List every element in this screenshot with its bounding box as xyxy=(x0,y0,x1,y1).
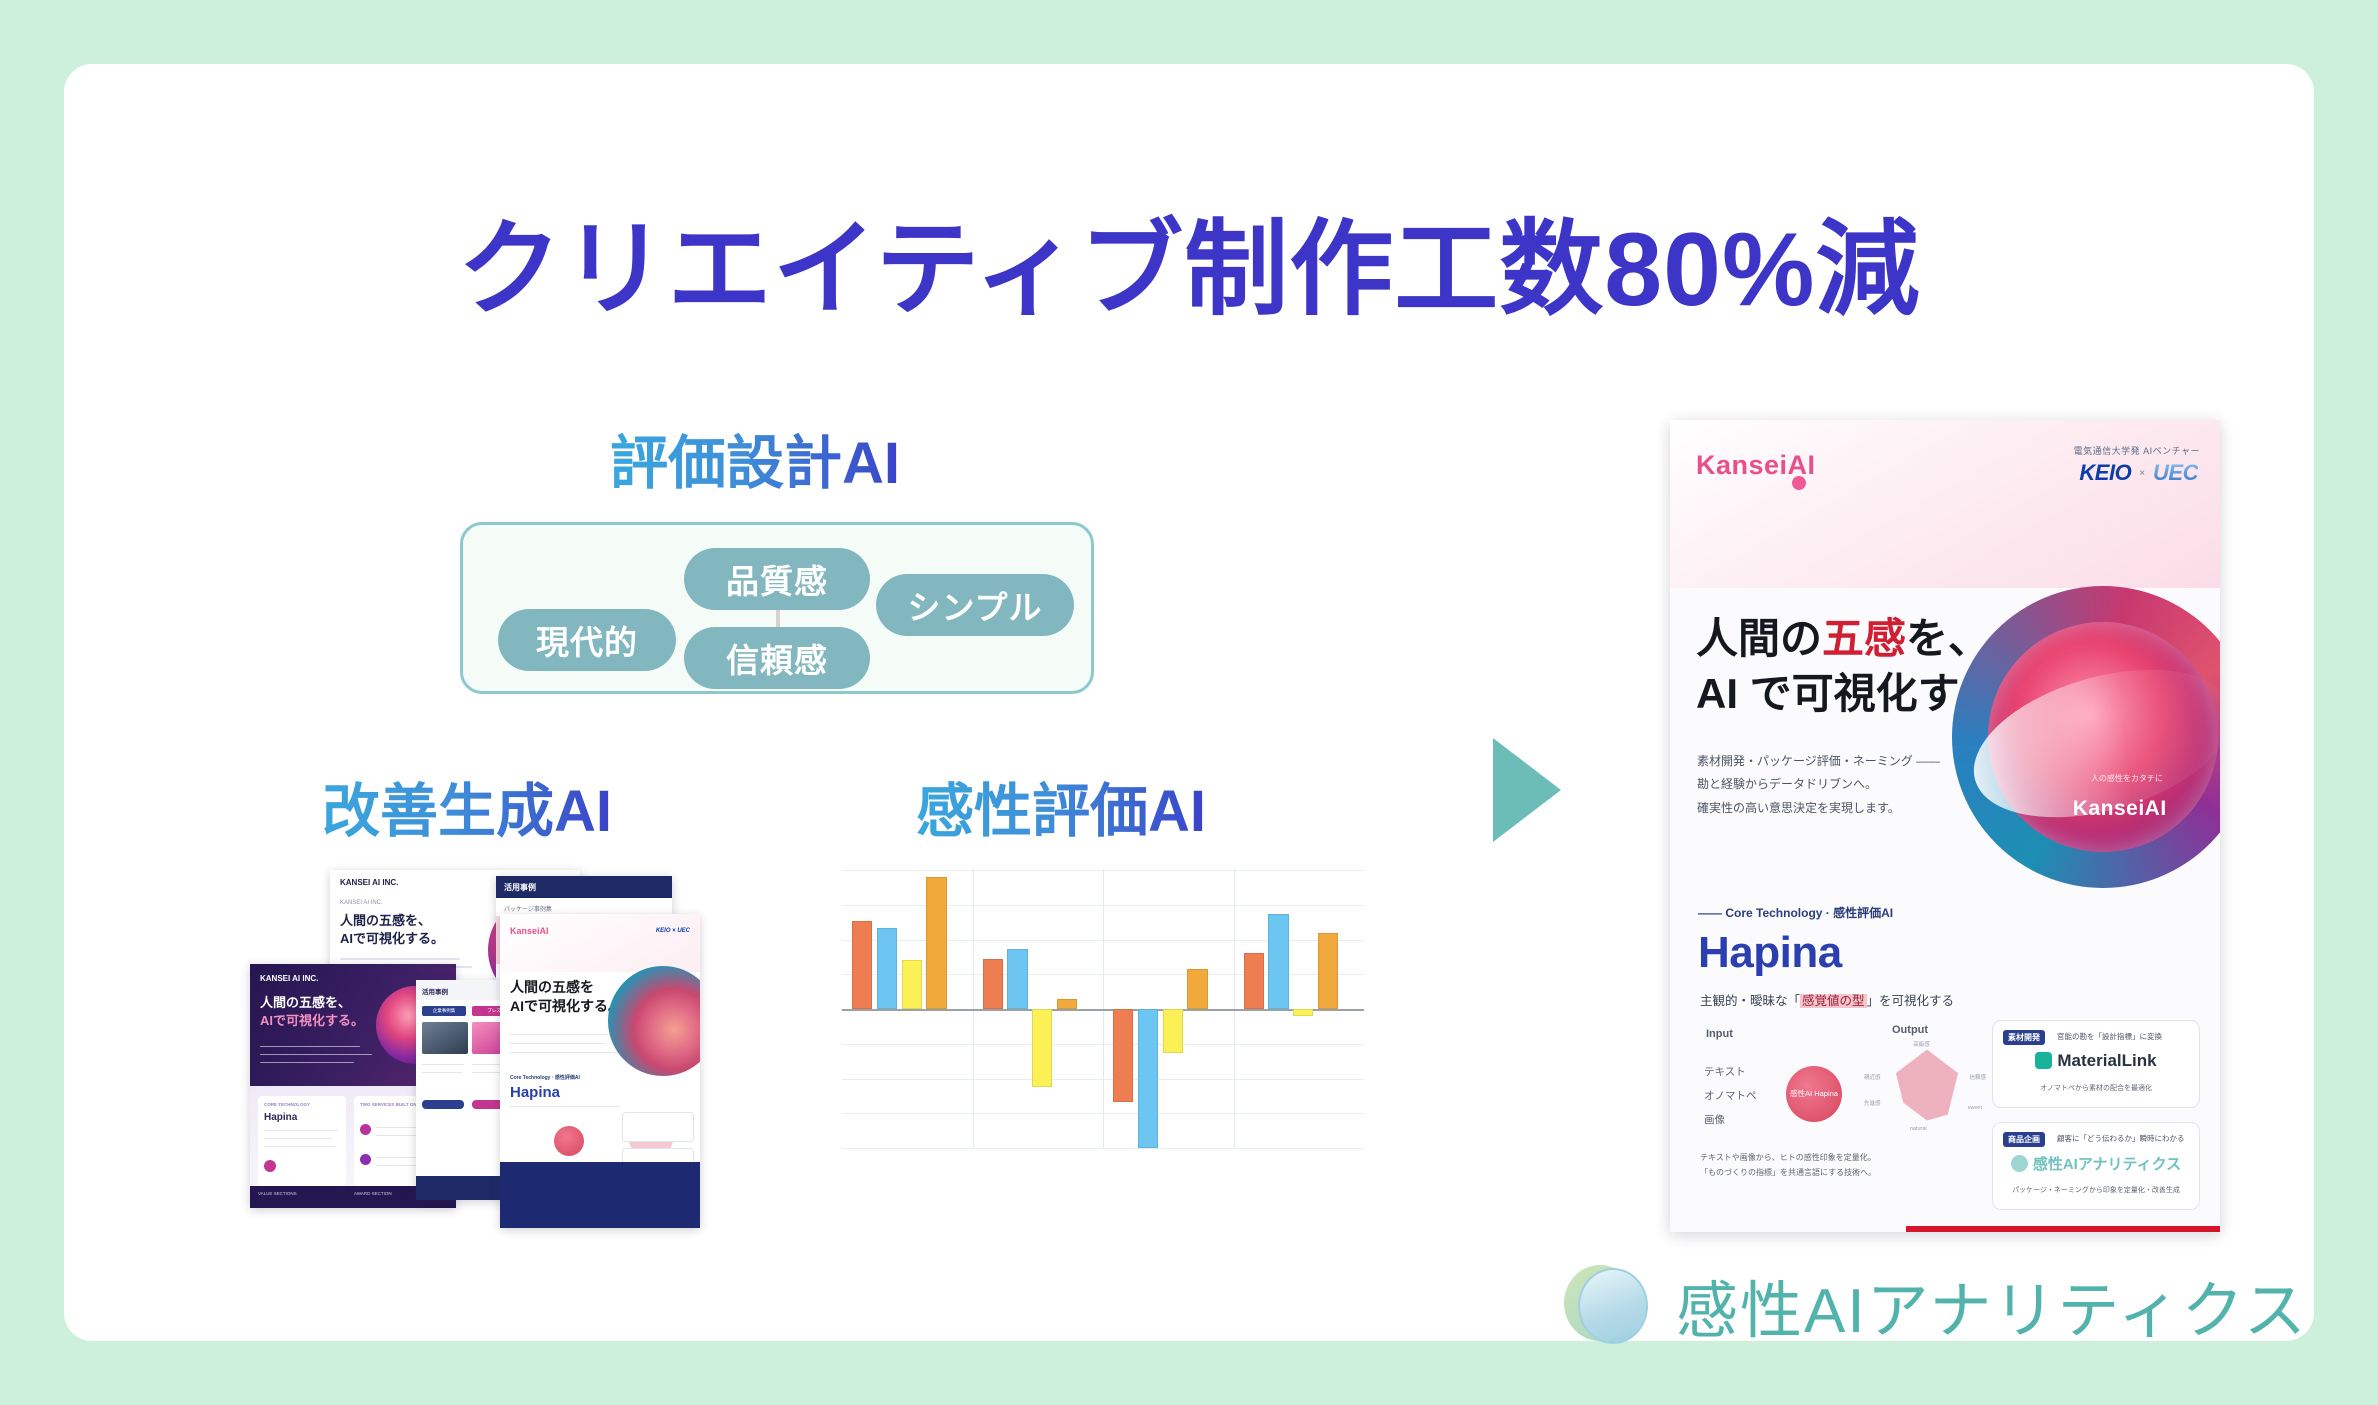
kansei-ai-analytics-logo-icon xyxy=(1564,1262,1650,1348)
poster-input-3: 画像 xyxy=(1704,1112,1725,1127)
kansei-ai-logo-dot-icon xyxy=(1792,476,1806,490)
collage-d-tag-1: 企業事例集 xyxy=(422,1006,466,1016)
poster-feature-box-analytics: 商品企画 顧客に「どう伝わるか」瞬時にわかる 感性AIアナリティクス パッケージ… xyxy=(1992,1122,2200,1210)
fbox2-brand-text: 感性AIアナリティクス xyxy=(2033,1156,2181,1173)
collage-c-headline-2: AIで可視化する。 xyxy=(260,1013,364,1028)
poster-orb-graphic: 人の感性をカタチに KanseiAI xyxy=(1952,586,2220,888)
collage-e-orb xyxy=(608,966,700,1076)
page-title: クリエイティブ制作工数80%減 xyxy=(64,184,2314,335)
collage-c-card2-bullet-1-icon xyxy=(360,1124,371,1135)
collage-a-rule-1 xyxy=(340,958,460,960)
kansei-score-bar-chart xyxy=(842,870,1364,1148)
analytics-circle-icon xyxy=(2011,1155,2028,1172)
collage-a-brand: KANSEI AI INC. xyxy=(340,878,398,887)
chart-bar xyxy=(983,959,1003,1009)
uec-logo: UEC xyxy=(2153,460,2198,486)
collage-a-headline: 人間の五感を、 AIで可視化する。 xyxy=(340,912,444,947)
poster-input-2: オノマトペ xyxy=(1704,1088,1757,1103)
section-heading-design-ai: 評価設計AI xyxy=(610,416,900,500)
chart-bar xyxy=(1113,1009,1133,1102)
collage-poster-e: KanseiAI KEIO × UEC 人間の五感を AIで可視化する。 Cor… xyxy=(500,914,700,1228)
collage-d-rule-2 xyxy=(422,1072,462,1073)
collage-e-hero-bg xyxy=(500,914,700,972)
radar-tick-5: 先進感 xyxy=(1864,1099,1881,1107)
core-sub-post: 」を可視化する xyxy=(1867,994,1955,1008)
collage-e-footer xyxy=(500,1162,700,1228)
brand-lockup: 感性AIアナリティクス xyxy=(1564,1260,2308,1350)
poster-radar-chart: 高級感 信頼感 sweet natural 先進感 親近感 xyxy=(1884,1042,1970,1128)
chart-bar xyxy=(1318,933,1338,1009)
collage-e-box-1 xyxy=(622,1112,694,1142)
kansei-ai-poster-collage: KANSEI AI INC. KANSEI AI INC. 人間の五感を、 AI… xyxy=(250,870,780,1270)
collage-a-headline-1: 人間の五感を、 xyxy=(340,913,431,928)
collage-c-card1-rule-1 xyxy=(264,1130,338,1131)
chart-bar xyxy=(1293,1009,1313,1016)
orb-caption-small: 人の感性をカタチに xyxy=(2091,773,2163,784)
fbox2-foot: パッケージ・ネーミングから印象を定量化・改善生成 xyxy=(1993,1185,2199,1195)
collage-e-rule-2 xyxy=(510,1043,606,1044)
poster-headline-highlight: 五感 xyxy=(1822,615,1906,662)
fbox1-tagtext: 官能の勘を「設計指標」に変換 xyxy=(2057,1031,2162,1042)
chart-zero-axis xyxy=(842,1009,1364,1011)
poster-headline-pre: 人間の xyxy=(1696,615,1822,662)
chart-bar xyxy=(1187,969,1207,1009)
poster-feature-box-material: 素材開発 官能の勘を「設計指標」に変換 MaterialLink オノマトペから… xyxy=(1992,1020,2200,1108)
poster-flow-note-1: テキストや画像から、ヒトの感性印象を定量化。 xyxy=(1700,1153,1876,1162)
logo-circle-blue xyxy=(1578,1268,1648,1344)
collage-c-card1-rule-3 xyxy=(264,1146,336,1147)
materiallink-icon xyxy=(2035,1052,2052,1069)
orb-caption: KanseiAI xyxy=(2073,797,2167,821)
collage-e-rule-1 xyxy=(510,1034,614,1035)
radar-tick-3: sweet xyxy=(1968,1105,1982,1111)
poster-output-label: Output xyxy=(1892,1024,1928,1036)
section-heading-kansei-ai: 感性評価AI xyxy=(916,764,1206,848)
radar-polygon xyxy=(1890,1048,1964,1122)
collage-e-headline-2: AIで可視化する。 xyxy=(510,998,622,1014)
radar-tick-4: natural xyxy=(1910,1126,1927,1132)
play-triangle-icon xyxy=(1493,738,1561,842)
collage-c-headline: 人間の五感を、 AIで可視化する。 xyxy=(260,994,364,1030)
fbox1-brand: MaterialLink xyxy=(1993,1051,2199,1071)
section-heading-improve-ai: 改善生成AI xyxy=(322,764,612,848)
poster-hapina-node: 感性AI Hapina xyxy=(1786,1066,1842,1122)
poster-partner-logos: KEIO × UEC xyxy=(2079,460,2198,486)
collage-e-partners: KEIO × UEC xyxy=(656,928,690,934)
chart-bar xyxy=(1138,1009,1158,1148)
tag-pill-shinraikan[interactable]: 信頼感 xyxy=(684,627,870,689)
collage-d-rule-1 xyxy=(422,1064,464,1065)
chart-bar xyxy=(926,877,946,1009)
collage-d-header-label: 活用事例 xyxy=(422,986,448,996)
partner-x-icon: × xyxy=(2139,468,2145,479)
collage-d-thumb-1 xyxy=(422,1022,468,1054)
chart-bar xyxy=(1163,1009,1183,1053)
collage-b-sub: パッケージ事例集 xyxy=(504,904,552,913)
tag-pill-gendaiteki[interactable]: 現代的 xyxy=(498,609,676,671)
tag-pill-simple[interactable]: シンプル xyxy=(876,574,1074,636)
collage-a-headline-2: AIで可視化する。 xyxy=(340,931,444,946)
collage-c-footer-right: AWARD SECTION xyxy=(354,1191,392,1196)
collage-c-footer-left: VALUE SECTIONS xyxy=(258,1191,297,1196)
chart-bar xyxy=(1032,1009,1052,1087)
poster-flow-note: テキストや画像から、ヒトの感性印象を定量化。 「ものづくりの指標」を共通言語にす… xyxy=(1700,1150,1876,1180)
collage-e-core-eyebrow: Core Technology · 感性評価AI xyxy=(510,1074,580,1081)
chart-bar xyxy=(1268,914,1288,1009)
collage-c-card1-bullet-icon xyxy=(264,1160,276,1172)
fbox1-tag: 素材開発 xyxy=(2003,1030,2045,1045)
poster-flow-note-2: 「ものづくりの指標」を共通言語にする技術へ。 xyxy=(1700,1168,1876,1177)
poster-input-1: テキスト xyxy=(1704,1064,1746,1079)
kansei-ai-main-poster: KanseiAI 電気通信大学発 AIベンチャー KEIO × UEC 人間の五… xyxy=(1670,420,2220,1232)
chart-bar xyxy=(1244,953,1264,1009)
collage-e-rule-4 xyxy=(510,1106,620,1107)
chart-bar xyxy=(902,960,922,1009)
chart-bar xyxy=(1057,999,1077,1009)
collage-e-node xyxy=(554,1126,584,1156)
collage-c-headline-1: 人間の五感を、 xyxy=(260,995,351,1010)
collage-e-headline-1: 人間の五感を xyxy=(510,979,594,995)
collage-d-cta-1[interactable] xyxy=(422,1100,464,1109)
poster-sub-2: 勘と経験からデータドリブンへ。 xyxy=(1697,777,1877,791)
collage-c-rule-2 xyxy=(260,1054,372,1055)
chart-bar xyxy=(877,928,897,1009)
chart-bar xyxy=(852,921,872,1009)
collage-b-header-label: 活用事例 xyxy=(504,882,536,893)
chart-gridline-h xyxy=(842,1148,1364,1149)
poster-core-subtitle: 主観的・曖昧な「感覚値の型」を可視化する xyxy=(1700,990,1954,1009)
collage-c-card1-title: Hapina xyxy=(264,1112,297,1123)
fbox1-brand-text: MaterialLink xyxy=(2057,1051,2156,1070)
poster-input-label: Input xyxy=(1706,1028,1733,1040)
collage-c-brand: KANSEI AI INC. xyxy=(260,974,318,983)
slide-canvas: クリエイティブ制作工数80%減 評価設計AI 改善生成AI 感性評価AI 現代的… xyxy=(0,0,2378,1405)
collage-e-logo: KanseiAI xyxy=(510,926,549,936)
fbox2-tag: 商品企画 xyxy=(2003,1132,2045,1147)
fbox2-tagtext: 顧客に「どう伝わるか」瞬時にわかる xyxy=(2057,1133,2185,1144)
core-sub-highlight: 感覚値の型 xyxy=(1800,994,1867,1008)
collage-c-card1-eyebrow: CORE TECHNOLOGY xyxy=(264,1102,310,1107)
collage-c-rule-1 xyxy=(260,1046,360,1047)
core-sub-pre: 主観的・曖昧な「 xyxy=(1700,994,1800,1008)
chart-bar xyxy=(1007,949,1027,1009)
collage-c-card-1: CORE TECHNOLOGY Hapina xyxy=(258,1096,346,1186)
slide-card: クリエイティブ制作工数80%減 評価設計AI 改善生成AI 感性評価AI 現代的… xyxy=(64,64,2314,1341)
radar-tick-6: 親近感 xyxy=(1864,1073,1881,1081)
collage-c-card2-bullet-2-icon xyxy=(360,1154,371,1165)
poster-subtext: 素材開発・パッケージ評価・ネーミング —— 勘と経験からデータドリブンへ。 確実… xyxy=(1697,750,1940,820)
collage-e-headline: 人間の五感を AIで可視化する。 xyxy=(510,978,622,1016)
tag-pill-hinshitsukan[interactable]: 品質感 xyxy=(684,548,870,610)
collage-a-eyebrow: KANSEI AI INC. xyxy=(340,900,383,906)
keio-logo: KEIO xyxy=(2079,460,2131,486)
poster-core-eyebrow: —— Core Technology · 感性評価AI xyxy=(1698,904,1893,921)
collage-e-core-title: Hapina xyxy=(510,1084,560,1101)
poster-sub-1: 素材開発・パッケージ評価・ネーミング —— xyxy=(1697,754,1940,768)
collage-c-rule-3 xyxy=(260,1062,354,1063)
radar-tick-2: 信頼感 xyxy=(1969,1073,1986,1081)
poster-sub-3: 確実性の高い意思決定を実現します。 xyxy=(1697,801,1900,815)
collage-b-header-bar: 活用事例 xyxy=(496,876,672,898)
fbox1-foot: オノマトペから素材の配合を最適化 xyxy=(1993,1083,2199,1093)
radar-tick-1: 高級感 xyxy=(1913,1040,1930,1048)
collage-e-rule-3 xyxy=(510,1052,618,1053)
poster-core-title: Hapina xyxy=(1698,928,1842,978)
fbox2-brand: 感性AIアナリティクス xyxy=(1993,1153,2199,1174)
collage-c-card1-rule-2 xyxy=(264,1138,332,1139)
brand-name: 感性AIアナリティクス xyxy=(1676,1260,2308,1350)
poster-partner-label: 電気通信大学発 AIベンチャー xyxy=(2074,444,2200,457)
poster-red-band: 勘や経験、好みが重視されるあらゆる業界に対応可能 xyxy=(1906,1226,2220,1232)
